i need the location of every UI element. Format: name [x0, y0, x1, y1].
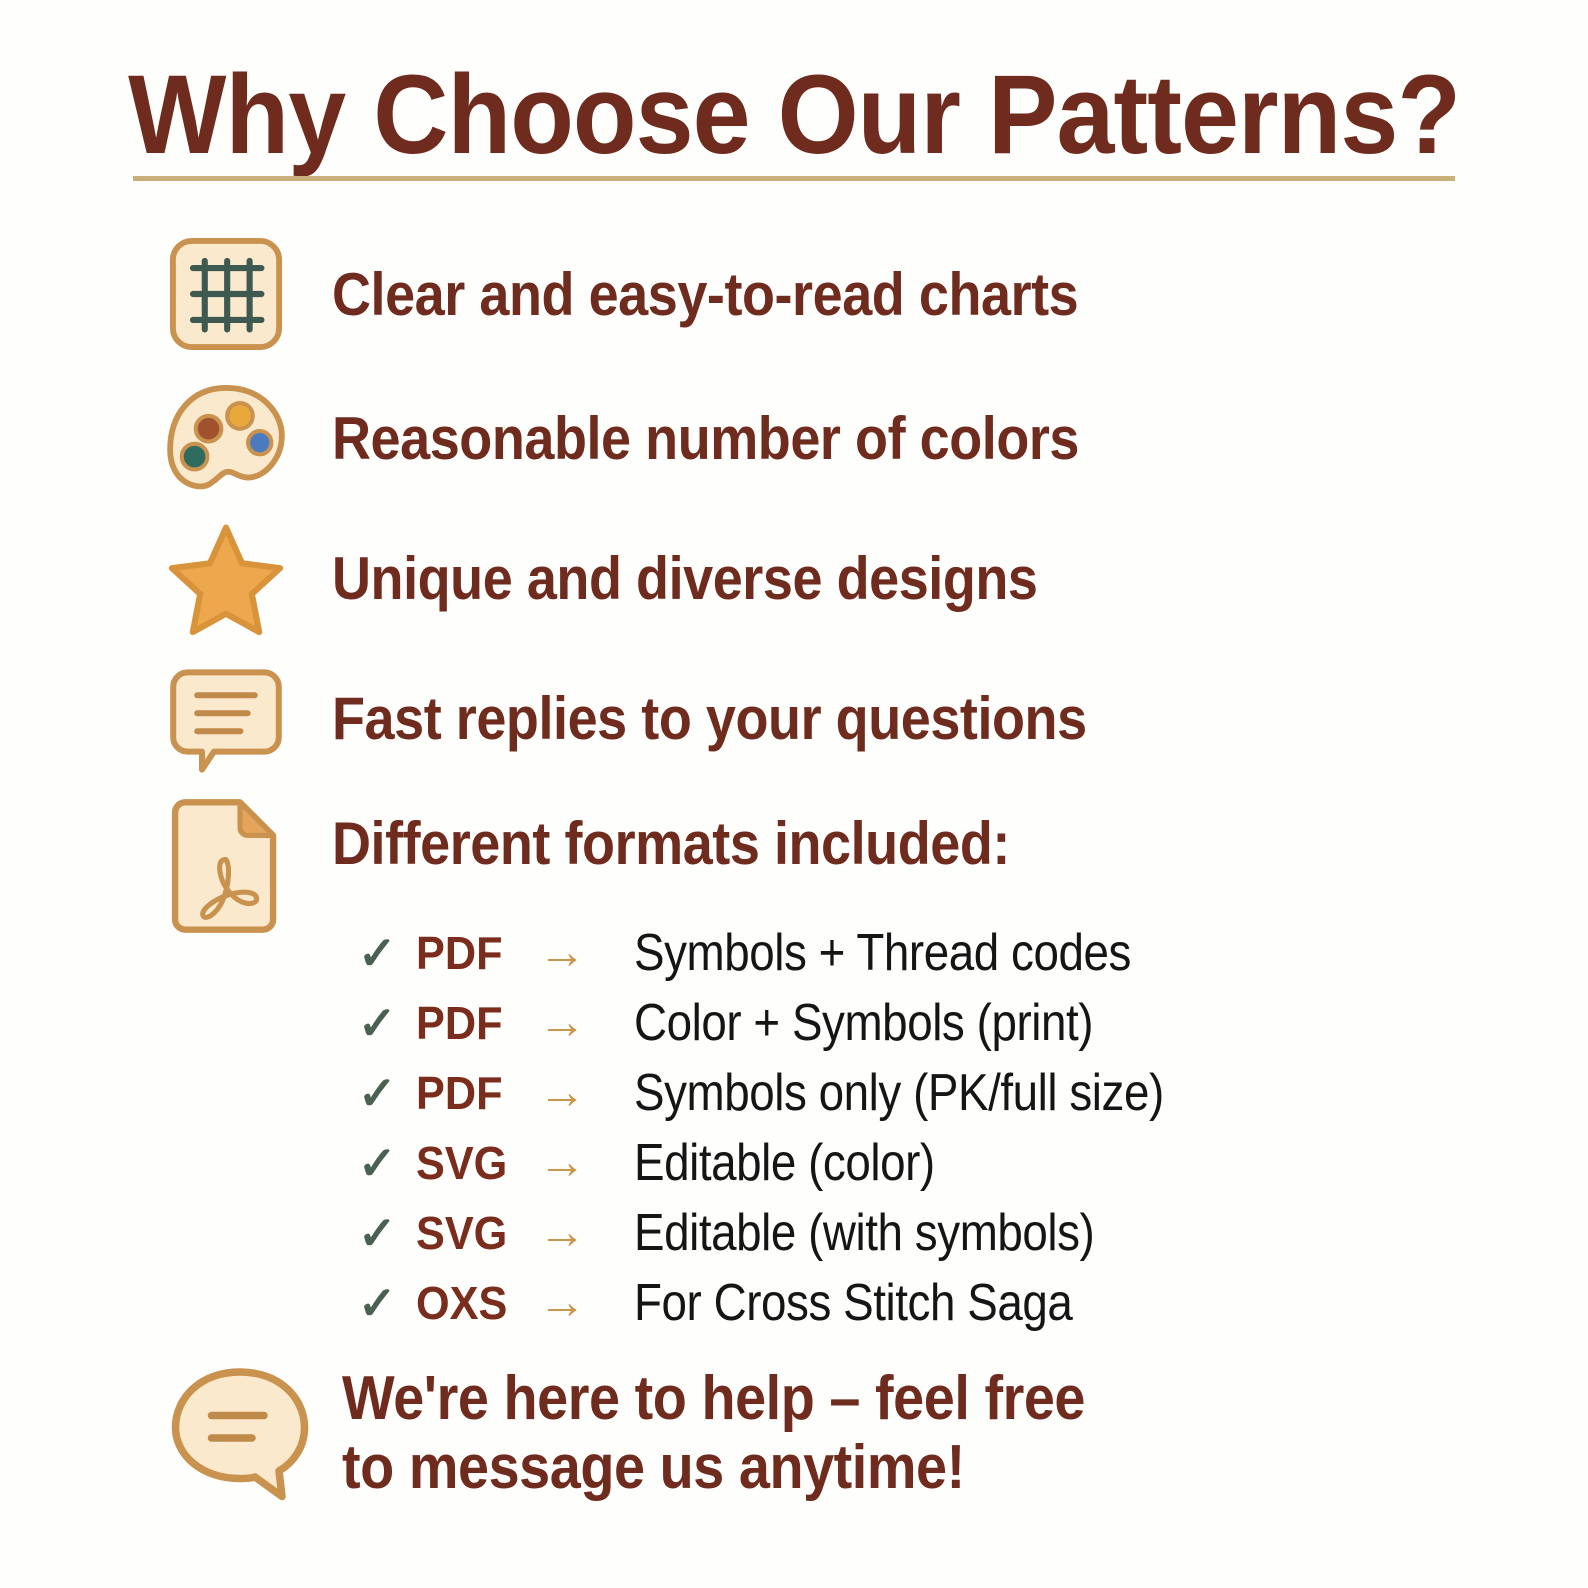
paint-palette-icon [160, 372, 292, 504]
arrow-right-icon: → [538, 1139, 634, 1187]
star-icon [160, 512, 292, 644]
speech-bubble-lines-icon [160, 652, 292, 784]
formats-list: ✓ PDF → Symbols + Thread codes ✓ PDF → C… [352, 918, 1432, 1338]
arrow-right-icon: → [538, 1279, 634, 1327]
footer-line-2: to message us anytime! [342, 1433, 1085, 1502]
format-description: Symbols + Thread codes [634, 923, 1131, 983]
arrow-right-icon: → [538, 1209, 634, 1257]
format-type-label: OXS [416, 1276, 531, 1330]
check-icon: ✓ [352, 1280, 416, 1326]
page-title: Why Choose Our Patterns? [128, 58, 1460, 172]
format-type-label: PDF [416, 996, 531, 1050]
list-item: ✓ PDF → Color + Symbols (print) [352, 988, 1432, 1058]
feature-label: Reasonable number of colors [332, 407, 1079, 470]
check-icon: ✓ [352, 1070, 416, 1116]
format-type-label: SVG [416, 1136, 531, 1190]
feature-label: Fast replies to your questions [332, 687, 1087, 750]
arrow-right-icon: → [538, 1069, 634, 1117]
feature-label: Clear and easy-to-read charts [332, 263, 1078, 326]
footer-line-1: We're here to help – feel free [342, 1364, 1085, 1433]
title-underline-rule [133, 176, 1455, 181]
arrow-right-icon: → [538, 999, 634, 1047]
check-icon: ✓ [352, 930, 416, 976]
format-description: Color + Symbols (print) [634, 993, 1093, 1053]
list-item: ✓ SVG → Editable (with symbols) [352, 1198, 1432, 1268]
poster-root: Why Choose Our Patterns? Clear and easy-… [0, 0, 1588, 1588]
format-description: Symbols only (PK/full size) [634, 1063, 1164, 1123]
format-type-label: SVG [416, 1206, 531, 1260]
check-icon: ✓ [352, 1140, 416, 1186]
pdf-document-icon [160, 800, 292, 932]
list-item: ✓ PDF → Symbols only (PK/full size) [352, 1058, 1432, 1128]
arrow-right-icon: → [538, 929, 634, 977]
feature-row-colors: Reasonable number of colors [160, 372, 1162, 504]
check-icon: ✓ [352, 1000, 416, 1046]
feature-row-replies: Fast replies to your questions [160, 652, 1171, 784]
page-title-container: Why Choose Our Patterns? [0, 58, 1588, 172]
list-item: ✓ SVG → Editable (color) [352, 1128, 1432, 1198]
list-item: ✓ PDF → Symbols + Thread codes [352, 918, 1432, 988]
grid-chart-icon [160, 228, 292, 360]
feature-label: Different formats included: [332, 812, 1010, 875]
footer-text-container: We're here to help – feel free to messag… [342, 1364, 1168, 1503]
feature-label: Unique and diverse designs [332, 547, 1037, 610]
feature-row-formats: Different formats included: [160, 800, 1085, 932]
check-icon: ✓ [352, 1210, 416, 1256]
format-description: Editable (with symbols) [634, 1203, 1094, 1263]
speech-bubble-round-icon [160, 1352, 320, 1512]
feature-row-designs: Unique and diverse designs [160, 512, 1116, 644]
list-item: ✓ OXS → For Cross Stitch Saga [352, 1268, 1432, 1338]
format-description: Editable (color) [634, 1133, 935, 1193]
footer-contact-block: We're here to help – feel free to messag… [160, 1352, 1168, 1512]
format-description: For Cross Stitch Saga [634, 1273, 1072, 1333]
format-type-label: PDF [416, 1066, 531, 1120]
feature-row-charts: Clear and easy-to-read charts [160, 228, 1161, 360]
format-type-label: PDF [416, 926, 531, 980]
